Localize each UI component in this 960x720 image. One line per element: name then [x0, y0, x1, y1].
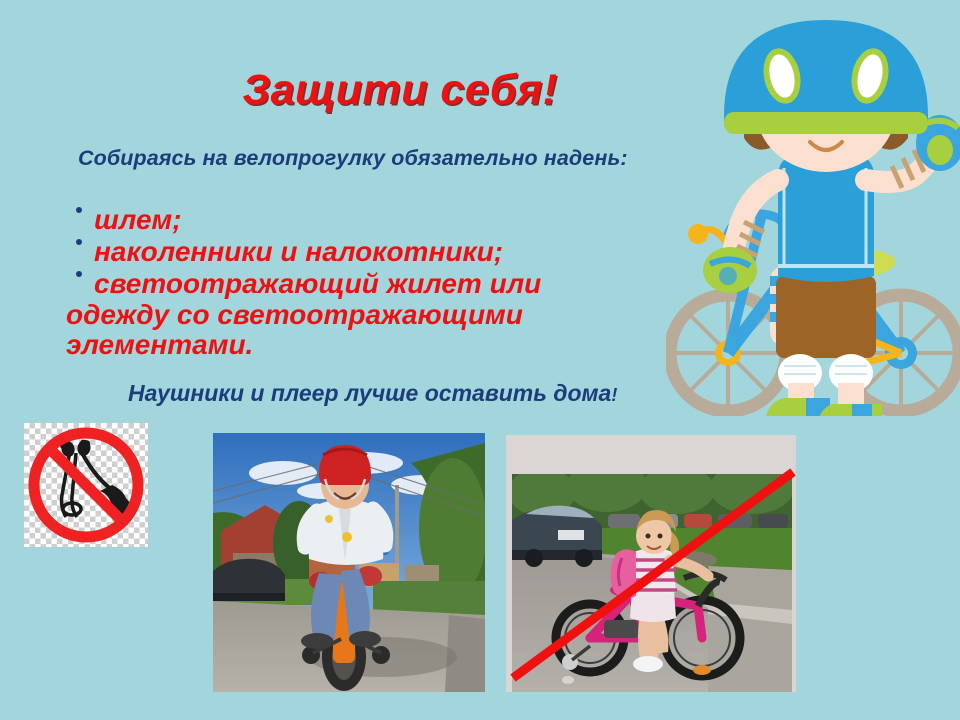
boy-shorts — [776, 276, 876, 358]
photo-boy-with-helmet — [213, 433, 485, 692]
bullet-continuation-line-2: элементами. — [66, 330, 706, 360]
list-item: наколенники и налокотники; — [66, 237, 706, 267]
boy-helmet — [724, 20, 928, 134]
footnote: Наушники и плеер лучше оставить дома! — [128, 380, 617, 407]
bullet-continuation-line-1: одежду со светоотражающими — [66, 300, 706, 330]
bullet-label: наколенники и налокотники; — [66, 237, 706, 267]
boy-with-bicycle-illustration — [666, 8, 960, 416]
no-headphones-sign — [24, 423, 148, 547]
slide-title: Защити себя! — [120, 66, 680, 115]
footnote-exclamation: ! — [611, 385, 617, 405]
bullet-list: шлем; наколенники и налокотники; светоот… — [66, 205, 706, 362]
bullet-label: светоотражающий жилет или — [66, 269, 706, 299]
bullet-label: шлем; — [66, 205, 706, 235]
slide-subtitle: Собираясь на велопрогулку обязательно на… — [78, 146, 628, 171]
photo-girl-without-helmet — [512, 474, 792, 692]
list-item: шлем; — [66, 205, 706, 235]
footnote-text: Наушники и плеер лучше оставить дома — [128, 380, 611, 406]
parked-car — [512, 506, 602, 567]
slide-canvas: Защити себя! Собираясь на велопрогулку о… — [0, 0, 960, 720]
list-item: светоотражающий жилет или одежду со свет… — [66, 269, 706, 360]
bullet-dot-icon — [76, 207, 82, 213]
boy-left-arm — [703, 180, 778, 293]
